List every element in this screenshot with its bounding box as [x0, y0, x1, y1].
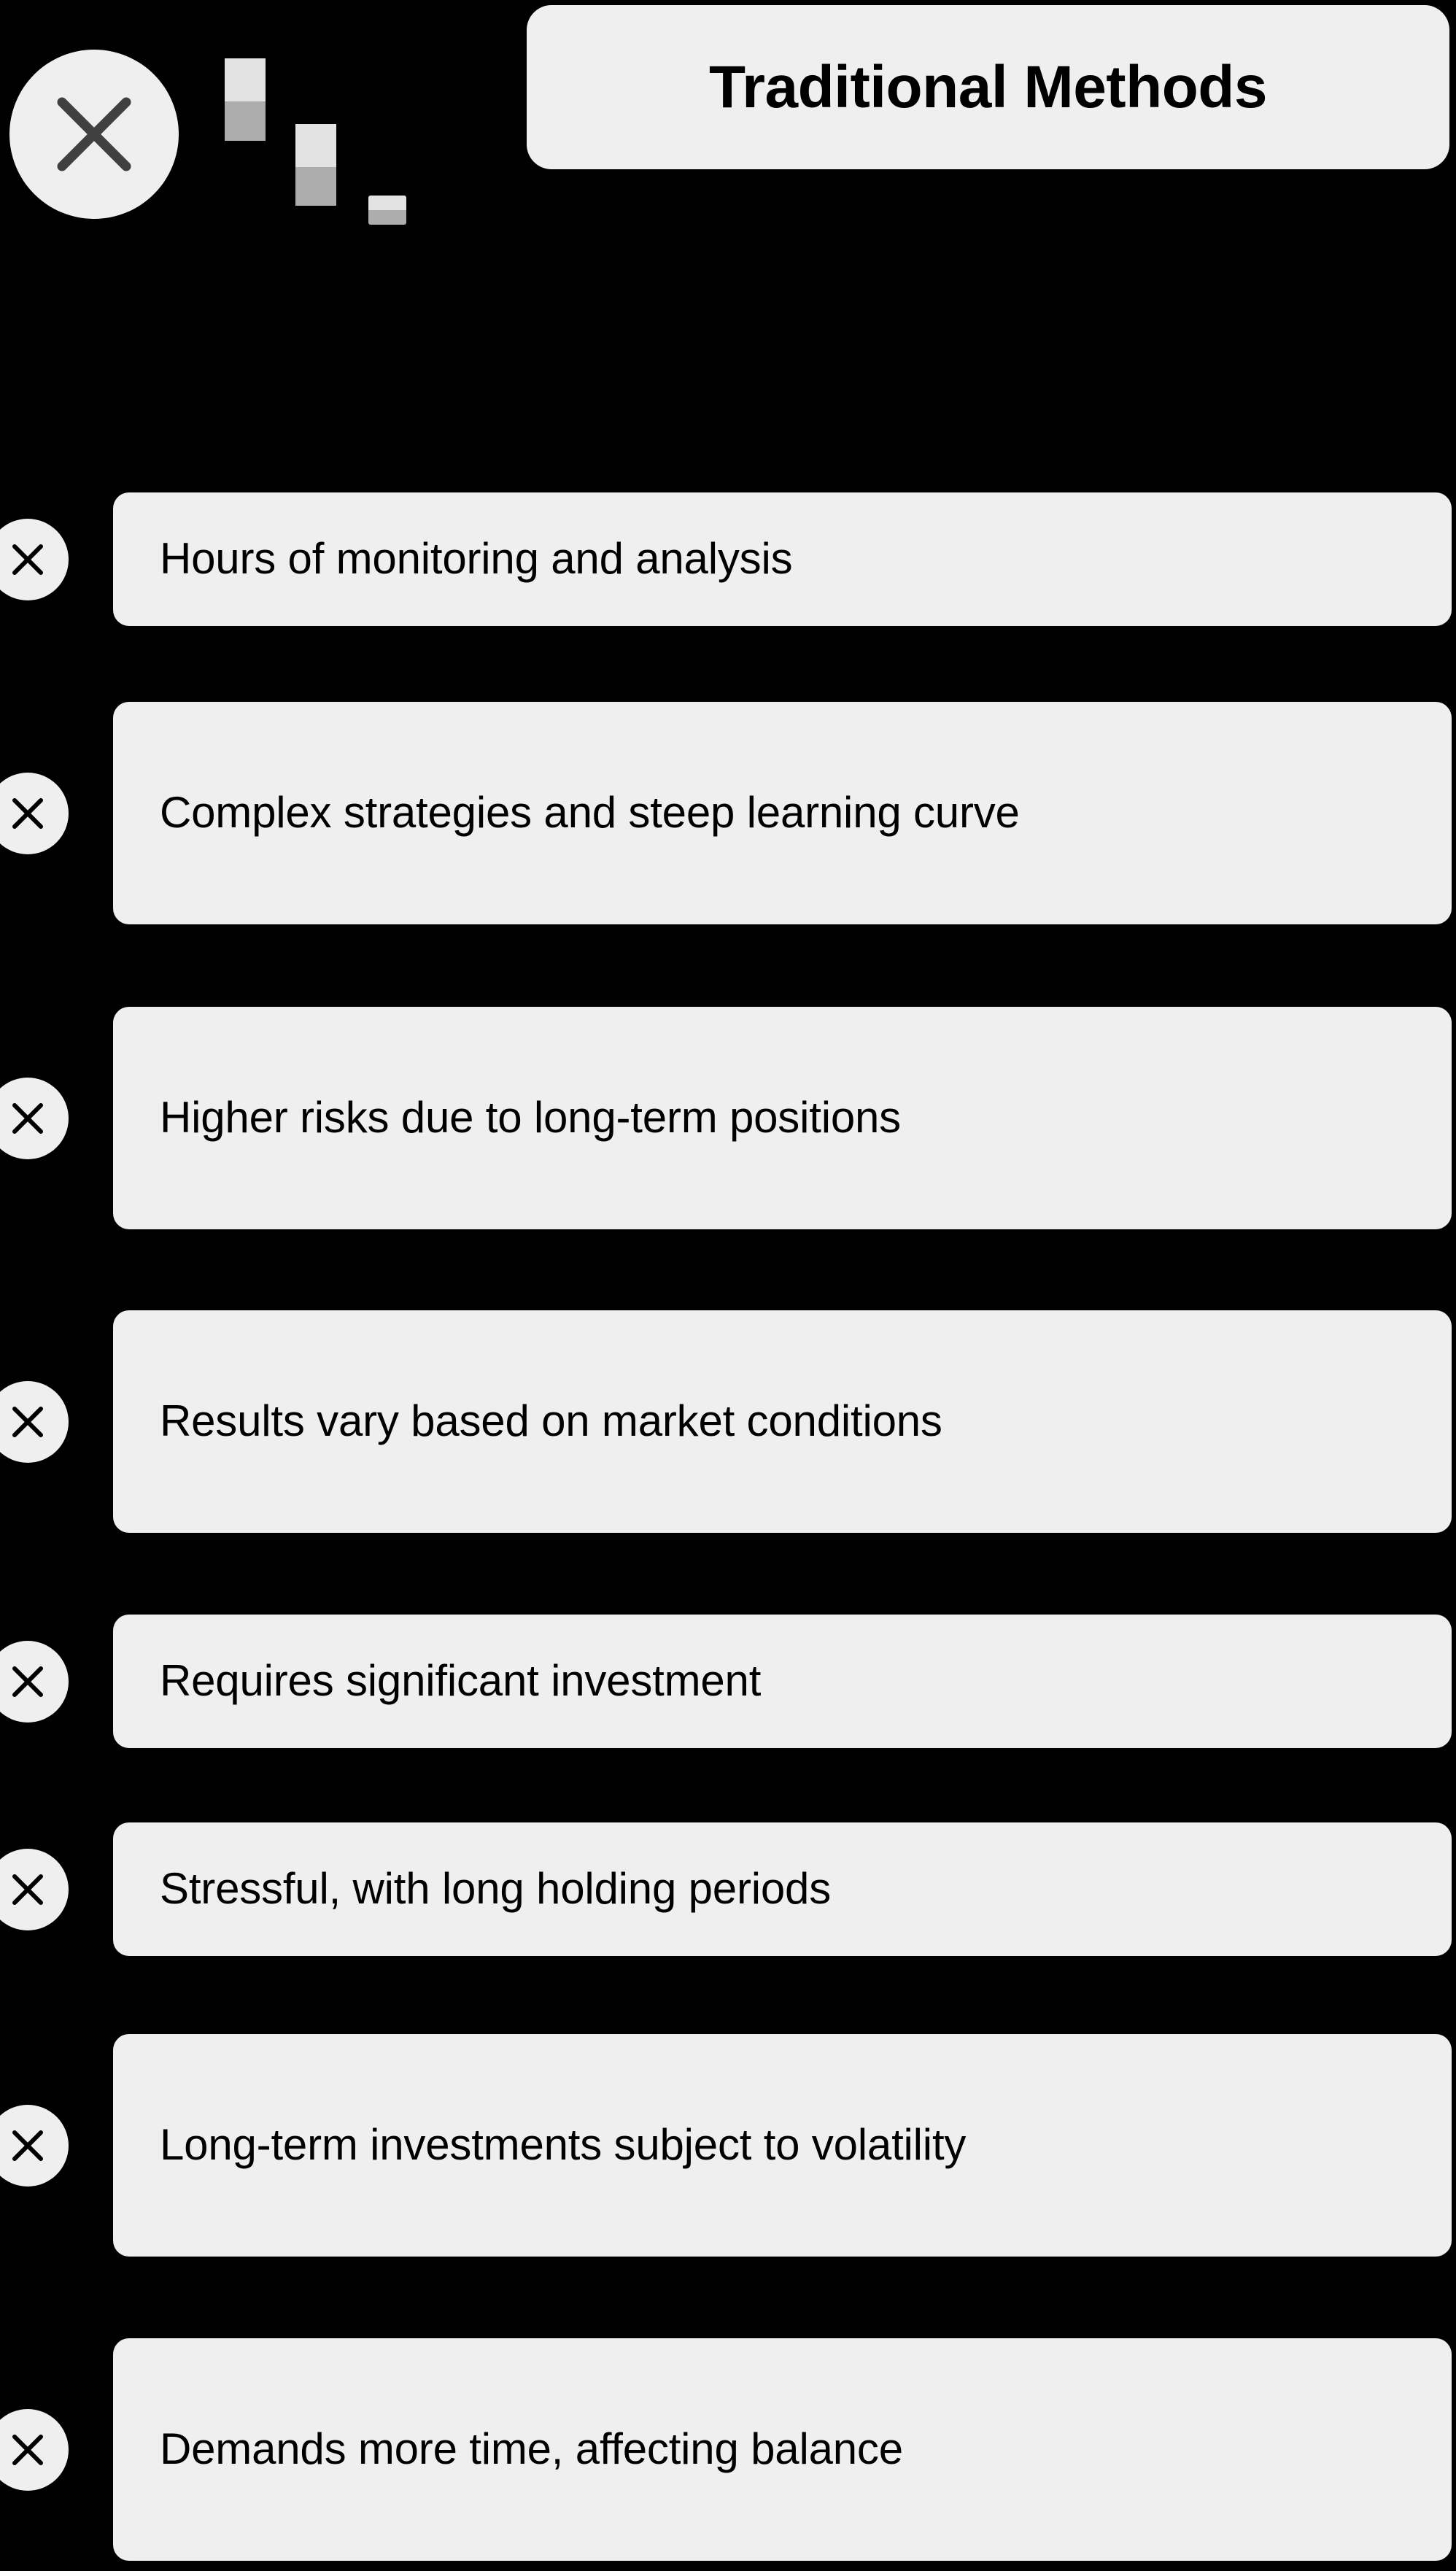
- close-x-icon: [0, 1381, 69, 1463]
- list-item-close-button[interactable]: [0, 1078, 69, 1159]
- list-item-label: Results vary based on market conditions: [160, 1391, 1405, 1452]
- list-item-label: Complex strategies and steep learning cu…: [160, 783, 1405, 843]
- close-x-icon: [0, 2409, 69, 2491]
- list-item-close-button[interactable]: [0, 1381, 69, 1463]
- close-x-icon: [0, 519, 69, 600]
- close-x-icon: [0, 2105, 69, 2187]
- list-item-close-button[interactable]: [0, 2105, 69, 2187]
- drawback-list: Hours of monitoring and analysisComplex …: [0, 0, 1456, 2571]
- list-item-label: Hours of monitoring and analysis: [160, 529, 1405, 589]
- page-root: Traditional Methods Hours of monitoring …: [0, 0, 1456, 2571]
- list-item-close-button[interactable]: [0, 1641, 69, 1723]
- list-item-label: Stressful, with long holding periods: [160, 1859, 1405, 1919]
- list-item-card[interactable]: Results vary based on market conditions: [113, 1310, 1452, 1533]
- list-item-card[interactable]: Stressful, with long holding periods: [113, 1822, 1452, 1956]
- list-item-label: Demands more time, affecting balance: [160, 2419, 1405, 2480]
- list-item-close-button[interactable]: [0, 773, 69, 854]
- close-x-icon: [0, 1849, 69, 1930]
- list-item-card[interactable]: Higher risks due to long-term positions: [113, 1007, 1452, 1229]
- list-item-label: Long-term investments subject to volatil…: [160, 2115, 1405, 2176]
- list-item-close-button[interactable]: [0, 1849, 69, 1930]
- list-item-card[interactable]: Requires significant investment: [113, 1615, 1452, 1748]
- list-item-label: Requires significant investment: [160, 1651, 1405, 1712]
- close-x-icon: [0, 1078, 69, 1159]
- close-x-icon: [0, 773, 69, 854]
- list-item-card[interactable]: Hours of monitoring and analysis: [113, 492, 1452, 626]
- list-item-close-button[interactable]: [0, 2409, 69, 2491]
- list-item-card[interactable]: Complex strategies and steep learning cu…: [113, 702, 1452, 924]
- close-x-icon: [0, 1641, 69, 1723]
- list-item-close-button[interactable]: [0, 519, 69, 600]
- list-item-card[interactable]: Demands more time, affecting balance: [113, 2338, 1452, 2561]
- list-item-card[interactable]: Long-term investments subject to volatil…: [113, 2034, 1452, 2257]
- list-item-label: Higher risks due to long-term positions: [160, 1088, 1405, 1148]
